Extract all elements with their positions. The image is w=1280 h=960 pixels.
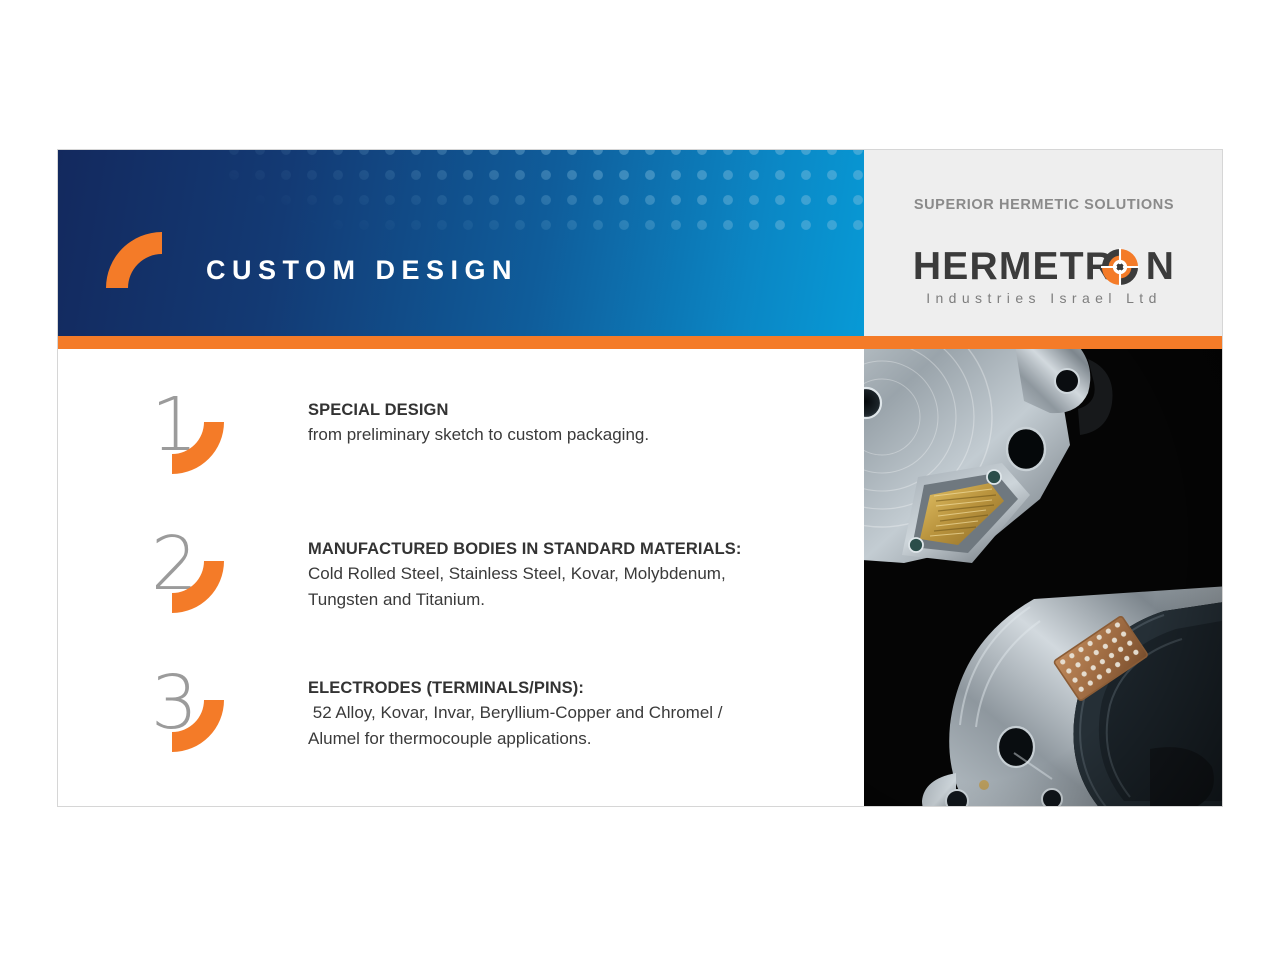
product-photo [864,349,1223,807]
header-gradient-banner: CUSTOM DESIGN [58,150,864,336]
list-item-marker: 3 [136,671,232,767]
list-item-body: 52 Alloy, Kovar, Invar, Beryllium-Copper… [308,700,848,752]
list-item-text: MANUFACTURED BODIES IN STANDARD MATERIAL… [308,538,848,613]
brand-lockup: HERMETRON [864,245,1223,306]
content-list: 1 SPECIAL DESIGN from preliminary sketch… [58,349,864,807]
brand-subtitle: Industries Israel Ltd [864,290,1223,306]
halftone-dot-pattern-icon [228,150,864,244]
quarter-arc-swoosh-icon [106,232,162,288]
list-item-marker: 2 [136,532,232,628]
brand-tagline: SUPERIOR HERMETIC SOLUTIONS [864,197,1223,213]
quarter-arc-swoosh-icon [172,700,224,752]
list-item-text: ELECTRODES (TERMINALS/PINS): 52 Alloy, K… [308,677,848,752]
list-item-heading: ELECTRODES (TERMINALS/PINS): [308,677,848,700]
list-item-text: SPECIAL DESIGN from preliminary sketch t… [308,399,848,448]
quarter-arc-swoosh-icon [172,422,224,474]
wordmark-text-after: N [1146,245,1175,288]
list-item-body: Cold Rolled Steel, Stainless Steel, Kova… [308,561,848,613]
target-crosshair-icon [1101,248,1139,286]
accent-divider [58,336,1223,349]
wordmark-text-before: HERMETR [913,245,1114,288]
slide-header: CUSTOM DESIGN SUPERIOR HERMETIC SOLUTION… [58,150,1223,336]
page-title: CUSTOM DESIGN [206,250,518,290]
list-item-marker: 1 [136,393,232,489]
brand-wordmark: HERMETRON [913,245,1175,289]
list-item-heading: SPECIAL DESIGN [308,399,848,422]
list-item-body: from preliminary sketch to custom packag… [308,422,848,448]
slide-card: CUSTOM DESIGN SUPERIOR HERMETIC SOLUTION… [57,149,1223,807]
list-item-heading: MANUFACTURED BODIES IN STANDARD MATERIAL… [308,538,848,561]
brand-logo-panel: SUPERIOR HERMETIC SOLUTIONS HERMETRON [864,150,1223,336]
quarter-arc-swoosh-icon [172,561,224,613]
